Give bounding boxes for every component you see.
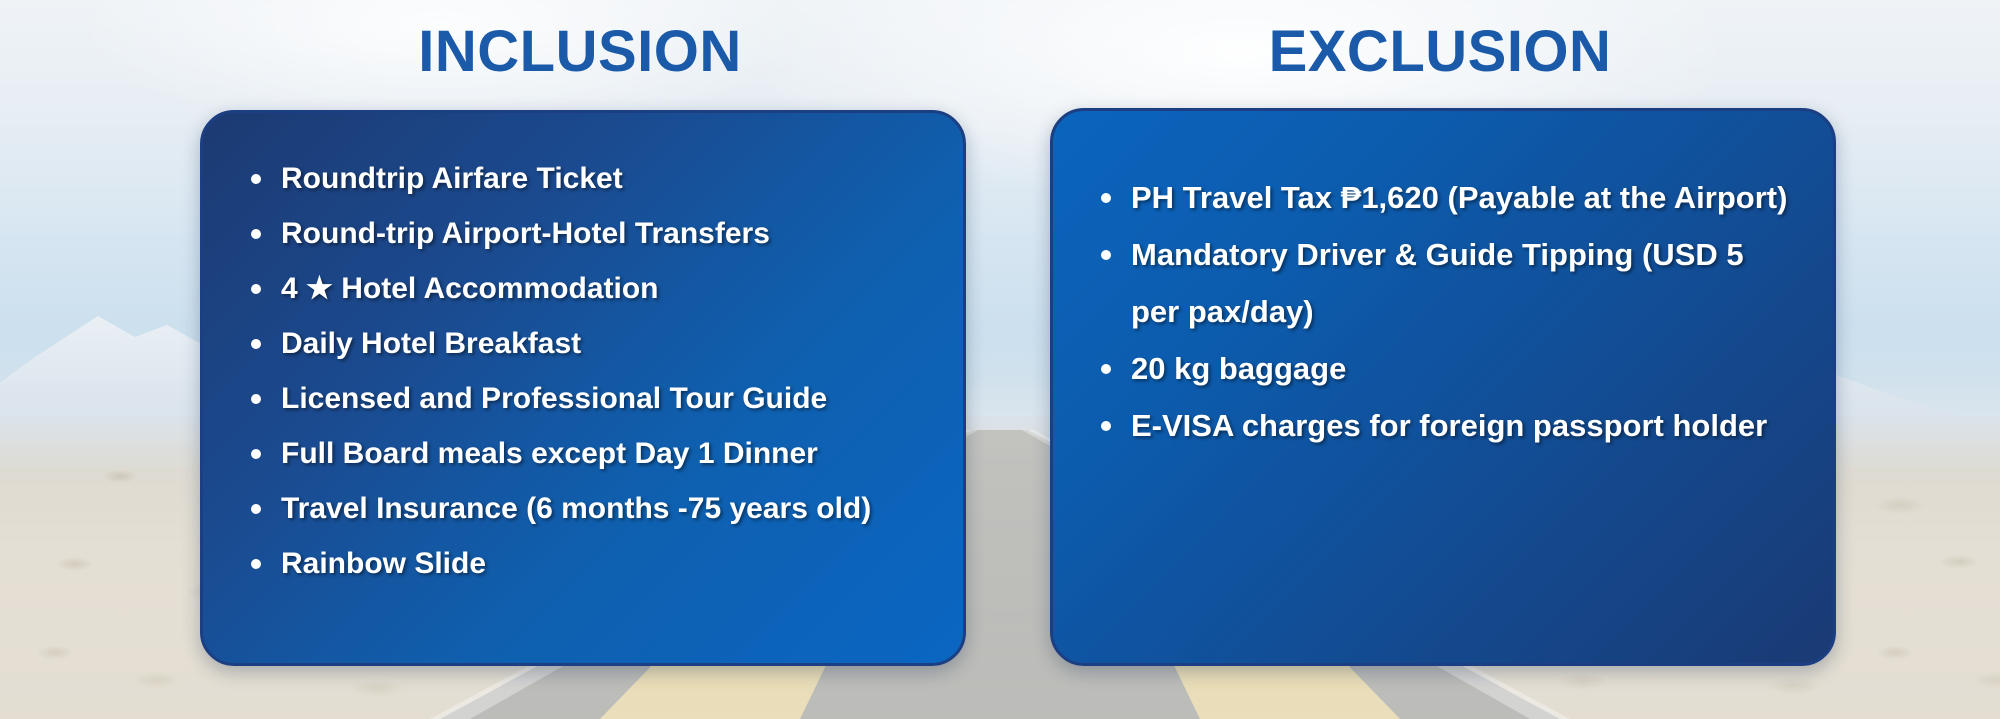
inclusion-item-label: Round-trip Airport-Hotel Transfers xyxy=(281,217,770,250)
inclusion-item-label: Rainbow Slide xyxy=(281,547,486,580)
list-item: Mandatory Driver & Guide Tipping (USD 5 … xyxy=(1131,226,1799,340)
inclusion-item-label: Daily Hotel Breakfast xyxy=(281,327,581,360)
poster-canvas: INCLUSION Roundtrip Airfare Ticket Round… xyxy=(0,0,2000,719)
list-item: E-VISA charges for foreign passport hold… xyxy=(1131,397,1799,454)
exclusion-item-label: Mandatory Driver & Guide Tipping (USD 5 … xyxy=(1131,237,1744,329)
list-item: 20 kg baggage xyxy=(1131,340,1799,397)
exclusion-item-label: E-VISA charges for foreign passport hold… xyxy=(1131,408,1767,443)
list-item: Licensed and Professional Tour Guide xyxy=(281,371,933,426)
list-item: Roundtrip Airfare Ticket xyxy=(281,151,933,206)
exclusion-heading: EXCLUSION xyxy=(1050,18,1830,85)
list-item: Full Board meals except Day 1 Dinner xyxy=(281,426,933,481)
list-item: Daily Hotel Breakfast xyxy=(281,316,933,371)
exclusion-card: PH Travel Tax ₱1,620 (Payable at the Air… xyxy=(1050,108,1836,666)
exclusion-list: PH Travel Tax ₱1,620 (Payable at the Air… xyxy=(1053,169,1833,454)
inclusion-item-label: Travel Insurance (6 months -75 years old… xyxy=(281,492,871,525)
inclusion-item-label: Roundtrip Airfare Ticket xyxy=(281,162,623,195)
list-item: Round-trip Airport-Hotel Transfers xyxy=(281,206,933,261)
exclusion-item-label: 20 kg baggage xyxy=(1131,351,1346,386)
inclusion-item-label: 4 ★ Hotel Accommodation xyxy=(281,272,659,305)
list-item: 4 ★ Hotel Accommodation xyxy=(281,261,933,316)
inclusion-list: Roundtrip Airfare Ticket Round-trip Airp… xyxy=(203,151,963,591)
list-item: Travel Insurance (6 months -75 years old… xyxy=(281,481,933,536)
exclusion-item-label: PH Travel Tax ₱1,620 (Payable at the Air… xyxy=(1131,180,1787,215)
inclusion-item-label: Licensed and Professional Tour Guide xyxy=(281,382,827,415)
list-item: Rainbow Slide xyxy=(281,536,933,591)
inclusion-card: Roundtrip Airfare Ticket Round-trip Airp… xyxy=(200,110,966,666)
poster-content: INCLUSION Roundtrip Airfare Ticket Round… xyxy=(0,0,2000,719)
inclusion-item-label: Full Board meals except Day 1 Dinner xyxy=(281,437,818,470)
list-item: PH Travel Tax ₱1,620 (Payable at the Air… xyxy=(1131,169,1799,226)
inclusion-heading: INCLUSION xyxy=(200,18,960,85)
